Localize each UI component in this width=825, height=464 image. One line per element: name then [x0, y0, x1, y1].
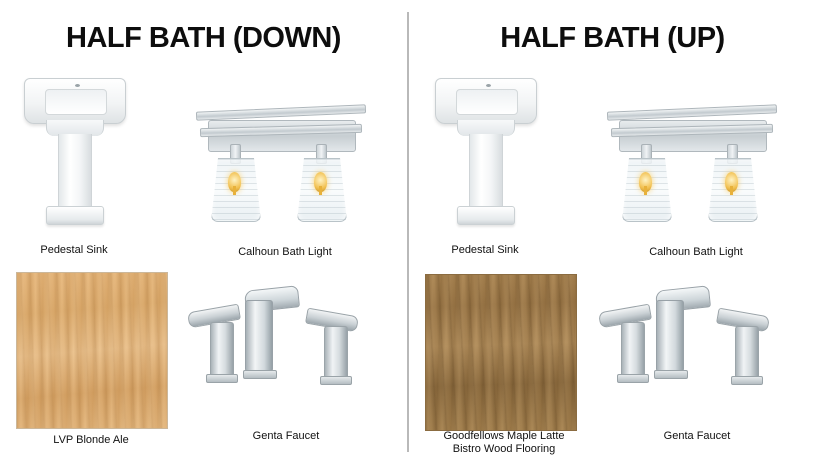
faucet-spout-base — [243, 370, 277, 379]
faucet-spout-body — [245, 300, 273, 372]
faucet-spout-base — [654, 370, 688, 379]
sink-basin — [24, 78, 126, 124]
faucet-base-left — [617, 374, 649, 383]
bath-light-right — [601, 86, 781, 236]
faucet-right — [599, 282, 784, 387]
page-title-right: HALF BATH (UP) — [409, 22, 816, 55]
faucet-image — [188, 282, 373, 387]
caption-pedestal-sink-right: Pedestal Sink — [421, 244, 549, 257]
faucet-post-right — [735, 326, 759, 382]
caption-bath-light-right: Calhoun Bath Light — [606, 246, 786, 259]
faucet-post-left — [210, 322, 234, 378]
sink-tap-hole — [75, 84, 80, 87]
light-cross-bar-top — [196, 104, 366, 120]
caption-pedestal-sink-left: Pedestal Sink — [10, 244, 138, 257]
flooring-left — [16, 272, 168, 429]
design-board: HALF BATH (DOWN) Pedestal Sink — [0, 0, 825, 464]
faucet-base-right — [731, 376, 763, 385]
pedestal-sink-image — [431, 78, 539, 228]
faucet-image — [599, 282, 784, 387]
bath-light-image — [601, 86, 781, 236]
panel-half-bath-down: HALF BATH (DOWN) Pedestal Sink — [0, 0, 407, 464]
light-cross-bar-top — [607, 104, 777, 120]
caption-faucet-right: Genta Faucet — [607, 430, 787, 443]
sink-tap-hole — [486, 84, 491, 87]
caption-bath-light-left: Calhoun Bath Light — [195, 246, 375, 259]
sink-basin-inner — [45, 89, 107, 115]
faucet-spout-body — [656, 300, 684, 372]
flooring-swatch-blonde-ale — [16, 272, 168, 429]
sink-pedestal-column — [58, 134, 92, 208]
light-filament-right — [730, 186, 733, 195]
faucet-post-right — [324, 326, 348, 382]
sink-base — [46, 206, 104, 225]
faucet-post-left — [621, 322, 645, 378]
faucet-base-left — [206, 374, 238, 383]
faucet-left — [188, 282, 373, 387]
page-title-left: HALF BATH (DOWN) — [0, 22, 407, 55]
caption-flooring-left: LVP Blonde Ale — [10, 434, 172, 447]
pedestal-sink-image — [20, 78, 128, 228]
sink-basin-inner — [456, 89, 518, 115]
caption-flooring-right-line2: Bistro Wood Flooring — [415, 443, 593, 456]
flooring-right — [425, 274, 577, 431]
caption-faucet-left: Genta Faucet — [196, 430, 376, 443]
bath-light-left — [190, 86, 370, 236]
light-filament-left — [233, 186, 236, 195]
sink-basin — [435, 78, 537, 124]
bath-light-image — [190, 86, 370, 236]
sink-base — [457, 206, 515, 225]
faucet-base-right — [320, 376, 352, 385]
sink-pedestal-column — [469, 134, 503, 208]
caption-flooring-right-line1: Goodfellows Maple Latte — [415, 430, 593, 443]
panel-half-bath-up: HALF BATH (UP) Pedestal Sink — [409, 0, 816, 464]
light-filament-right — [319, 186, 322, 195]
pedestal-sink-left — [20, 78, 128, 228]
pedestal-sink-right — [431, 78, 539, 228]
flooring-swatch-maple-latte — [425, 274, 577, 431]
light-filament-left — [644, 186, 647, 195]
